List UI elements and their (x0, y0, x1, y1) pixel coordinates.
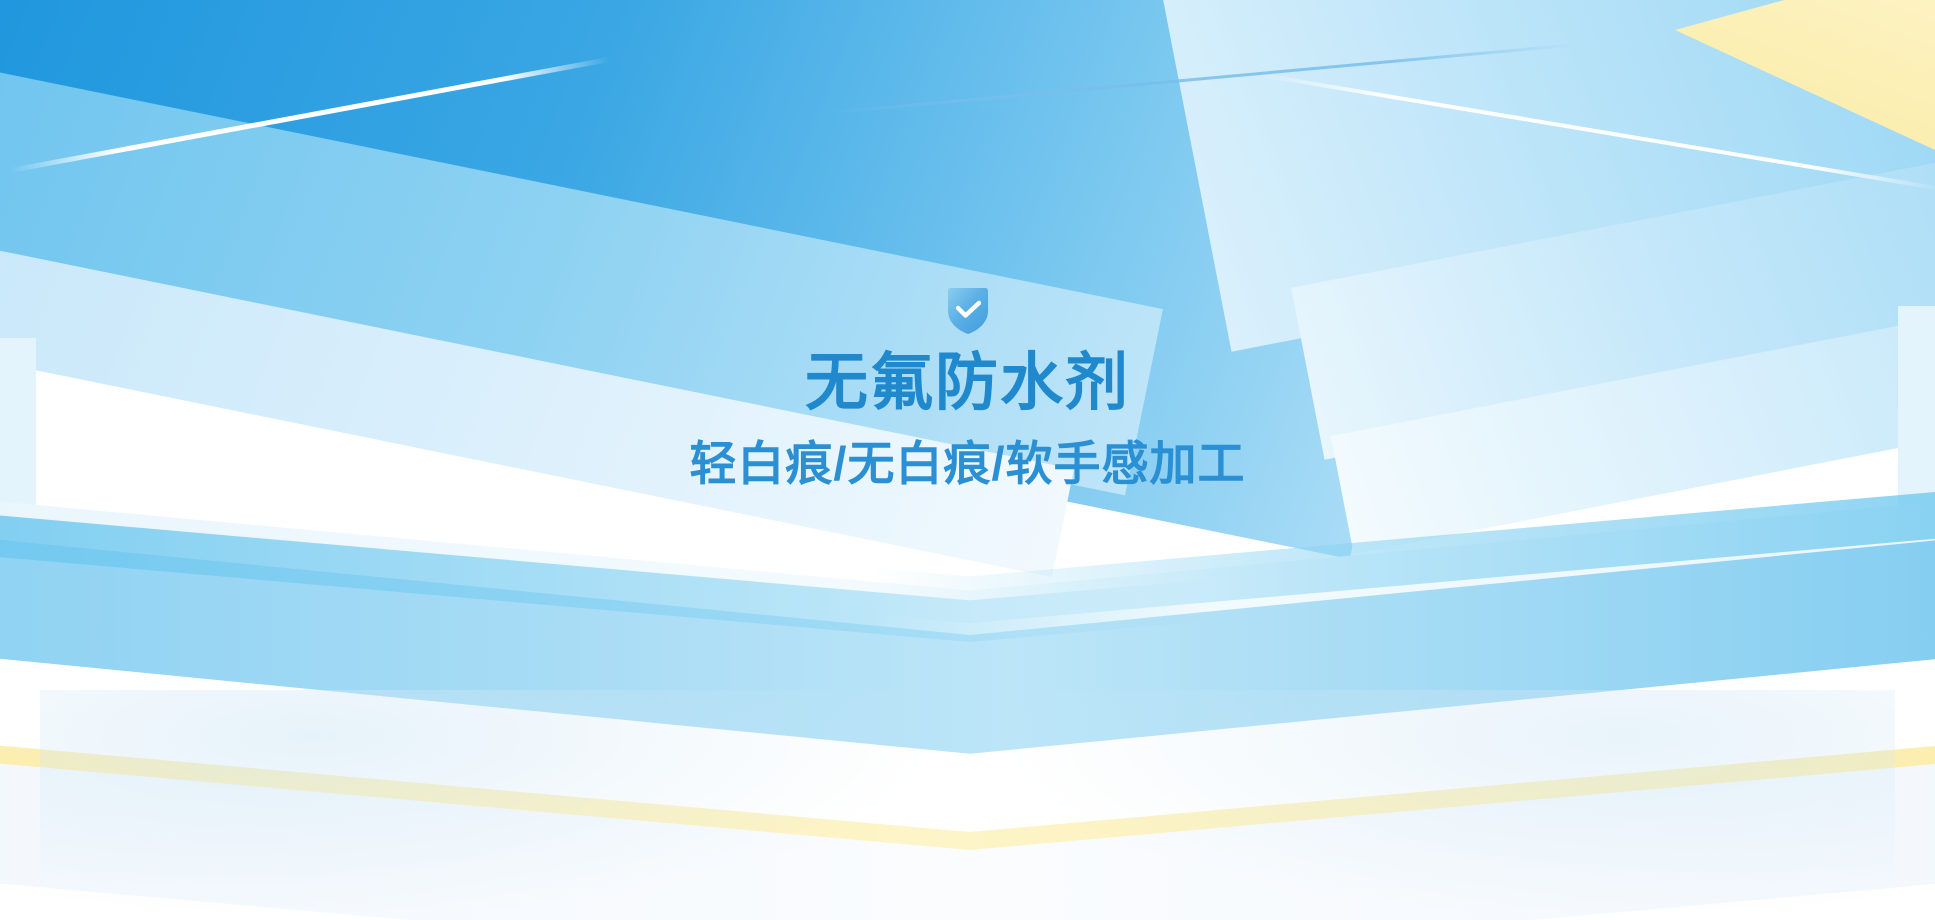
chevron-faint-layer (0, 760, 1935, 920)
chevron-blue-shade-left (0, 512, 1935, 772)
white-streak-left-icon (10, 57, 611, 173)
banner-content: 无氟防水剂 轻白痕/无白痕/软手感加工 (0, 286, 1935, 490)
chevron-blue-layer (0, 536, 1935, 866)
bottom-right-soft-wash (995, 690, 1895, 920)
blue-hairline-streak-icon (820, 43, 1577, 115)
product-banner: 无氟防水剂 轻白痕/无白痕/软手感加工 (0, 0, 1935, 920)
page-title: 无氟防水剂 (805, 350, 1130, 416)
shield-check-icon (944, 286, 992, 336)
bottom-left-soft-wash (40, 690, 940, 920)
chevron-pale-layer (0, 498, 1935, 828)
chevron-yellow-layer (0, 742, 1935, 920)
page-subtitle: 轻白痕/无白痕/软手感加工 (689, 438, 1245, 490)
top-right-yellow-triangle (1675, 0, 1935, 150)
white-streak-right-icon (1255, 72, 1935, 191)
chevron-blue-shade-right (0, 488, 1935, 748)
